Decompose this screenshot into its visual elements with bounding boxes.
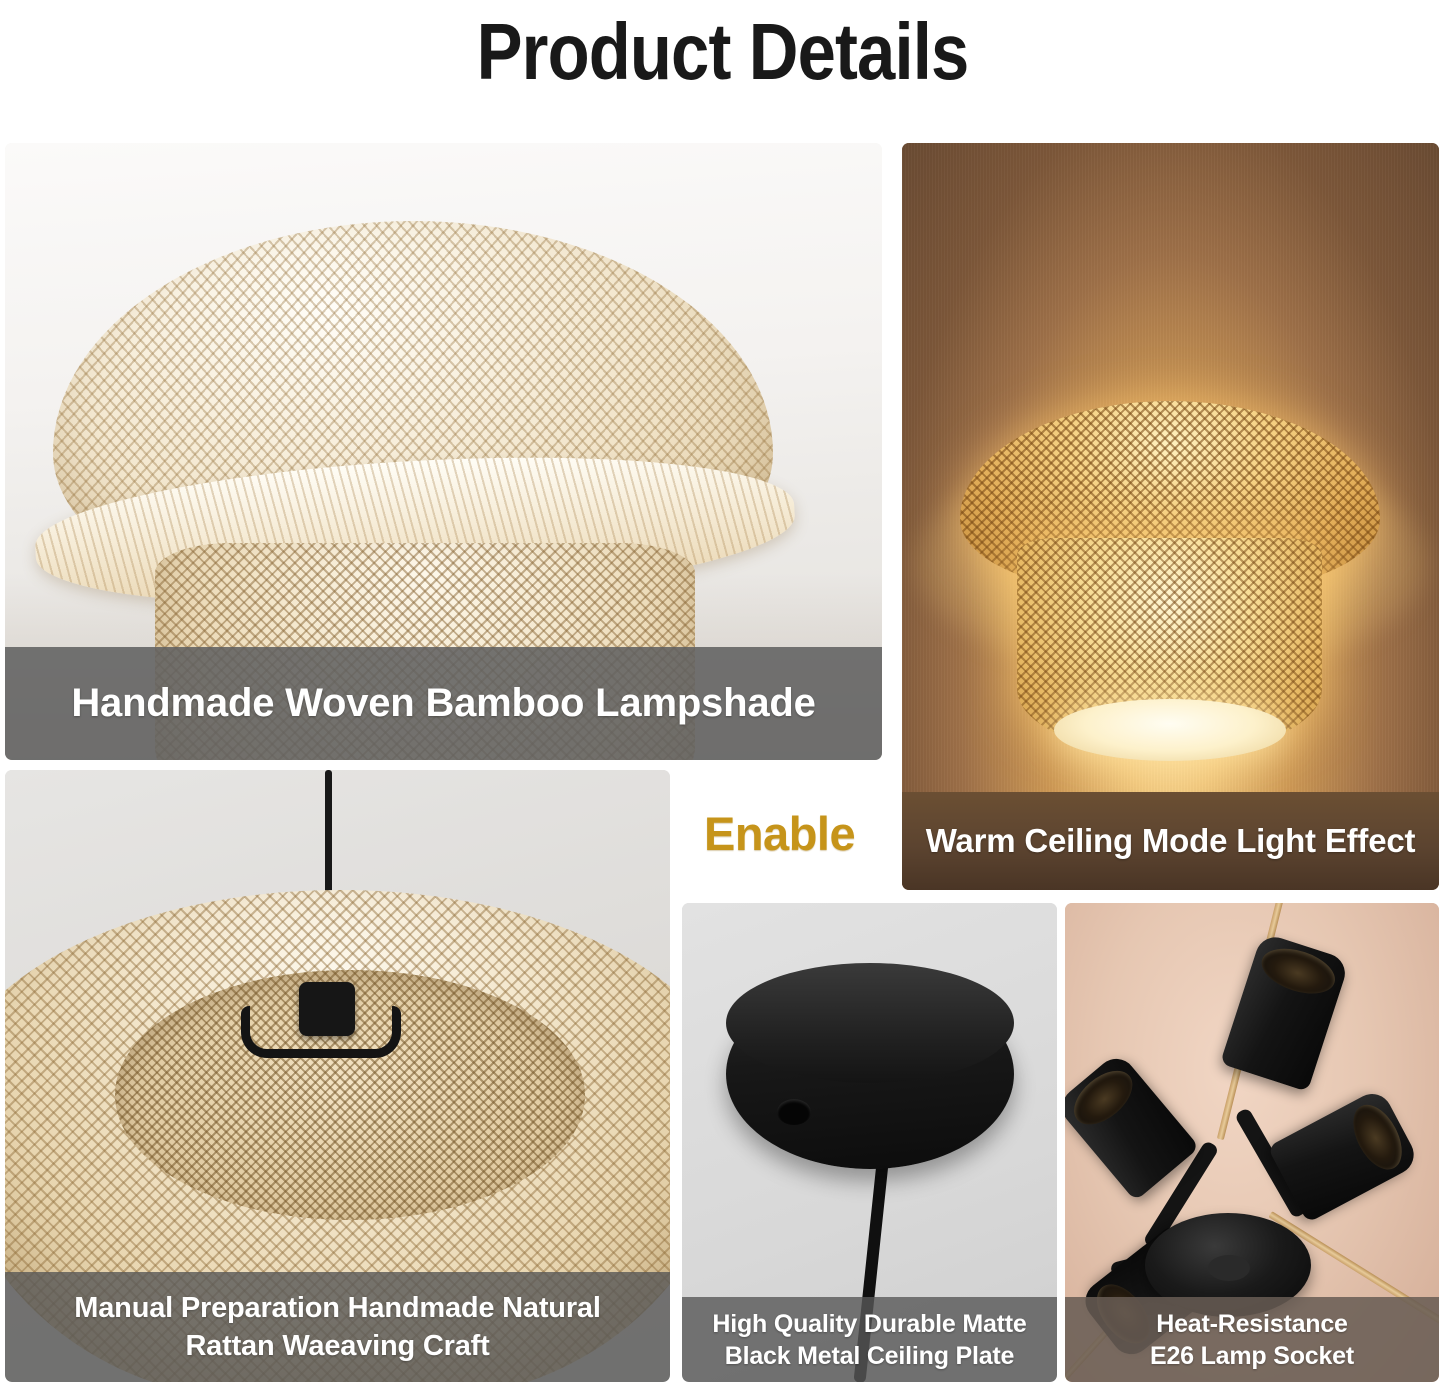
panel-caption: Warm Ceiling Mode Light Effect — [902, 792, 1439, 890]
ceiling-plate-top-face — [726, 963, 1014, 1083]
panel-handmade-woven-bamboo-lampshade[interactable]: Handmade Woven Bamboo Lampshade — [5, 143, 882, 760]
warm-light-effect-photo — [902, 143, 1439, 890]
panel-caption: Heat-Resistance E26 Lamp Socket — [1065, 1297, 1439, 1382]
caption-text-line-2: Rattan Waeaving Craft — [74, 1327, 600, 1365]
caption-text-line-2: E26 Lamp Socket — [1150, 1340, 1354, 1372]
caption-text-line-2: Black Metal Ceiling Plate — [712, 1340, 1026, 1372]
socket-hub-cap — [1208, 1255, 1250, 1281]
panel-heat-resistance-e26-lamp-socket[interactable]: Heat-Resistance E26 Lamp Socket — [1065, 903, 1439, 1382]
panel-manual-preparation-rattan-weaving-craft[interactable]: Manual Preparation Handmade Natural Ratt… — [5, 770, 670, 1382]
page-title: Product Details — [101, 4, 1344, 100]
caption-text-line-1: Manual Preparation Handmade Natural — [74, 1289, 600, 1327]
cord-socket-housing — [299, 982, 355, 1036]
panel-caption: Handmade Woven Bamboo Lampshade — [5, 647, 882, 760]
caption-text-line-1: Heat-Resistance — [1150, 1308, 1354, 1340]
product-details-page: Product Details Handmade Woven Bamboo La… — [0, 0, 1445, 1387]
panel-warm-ceiling-mode-light-effect[interactable]: Warm Ceiling Mode Light Effect — [902, 143, 1439, 890]
caption-text-line-1: High Quality Durable Matte — [712, 1308, 1026, 1340]
caption-text: Warm Ceiling Mode Light Effect — [926, 822, 1416, 860]
lit-shade-bottom-diffuser — [1054, 699, 1286, 761]
ceiling-plate-screw-hole — [777, 1099, 811, 1125]
panel-caption: Manual Preparation Handmade Natural Ratt… — [5, 1272, 670, 1382]
enable-label: Enable — [704, 806, 855, 861]
panel-black-metal-ceiling-plate[interactable]: High Quality Durable Matte Black Metal C… — [682, 903, 1057, 1382]
panel-caption: High Quality Durable Matte Black Metal C… — [682, 1297, 1057, 1382]
caption-text: Handmade Woven Bamboo Lampshade — [71, 681, 815, 726]
